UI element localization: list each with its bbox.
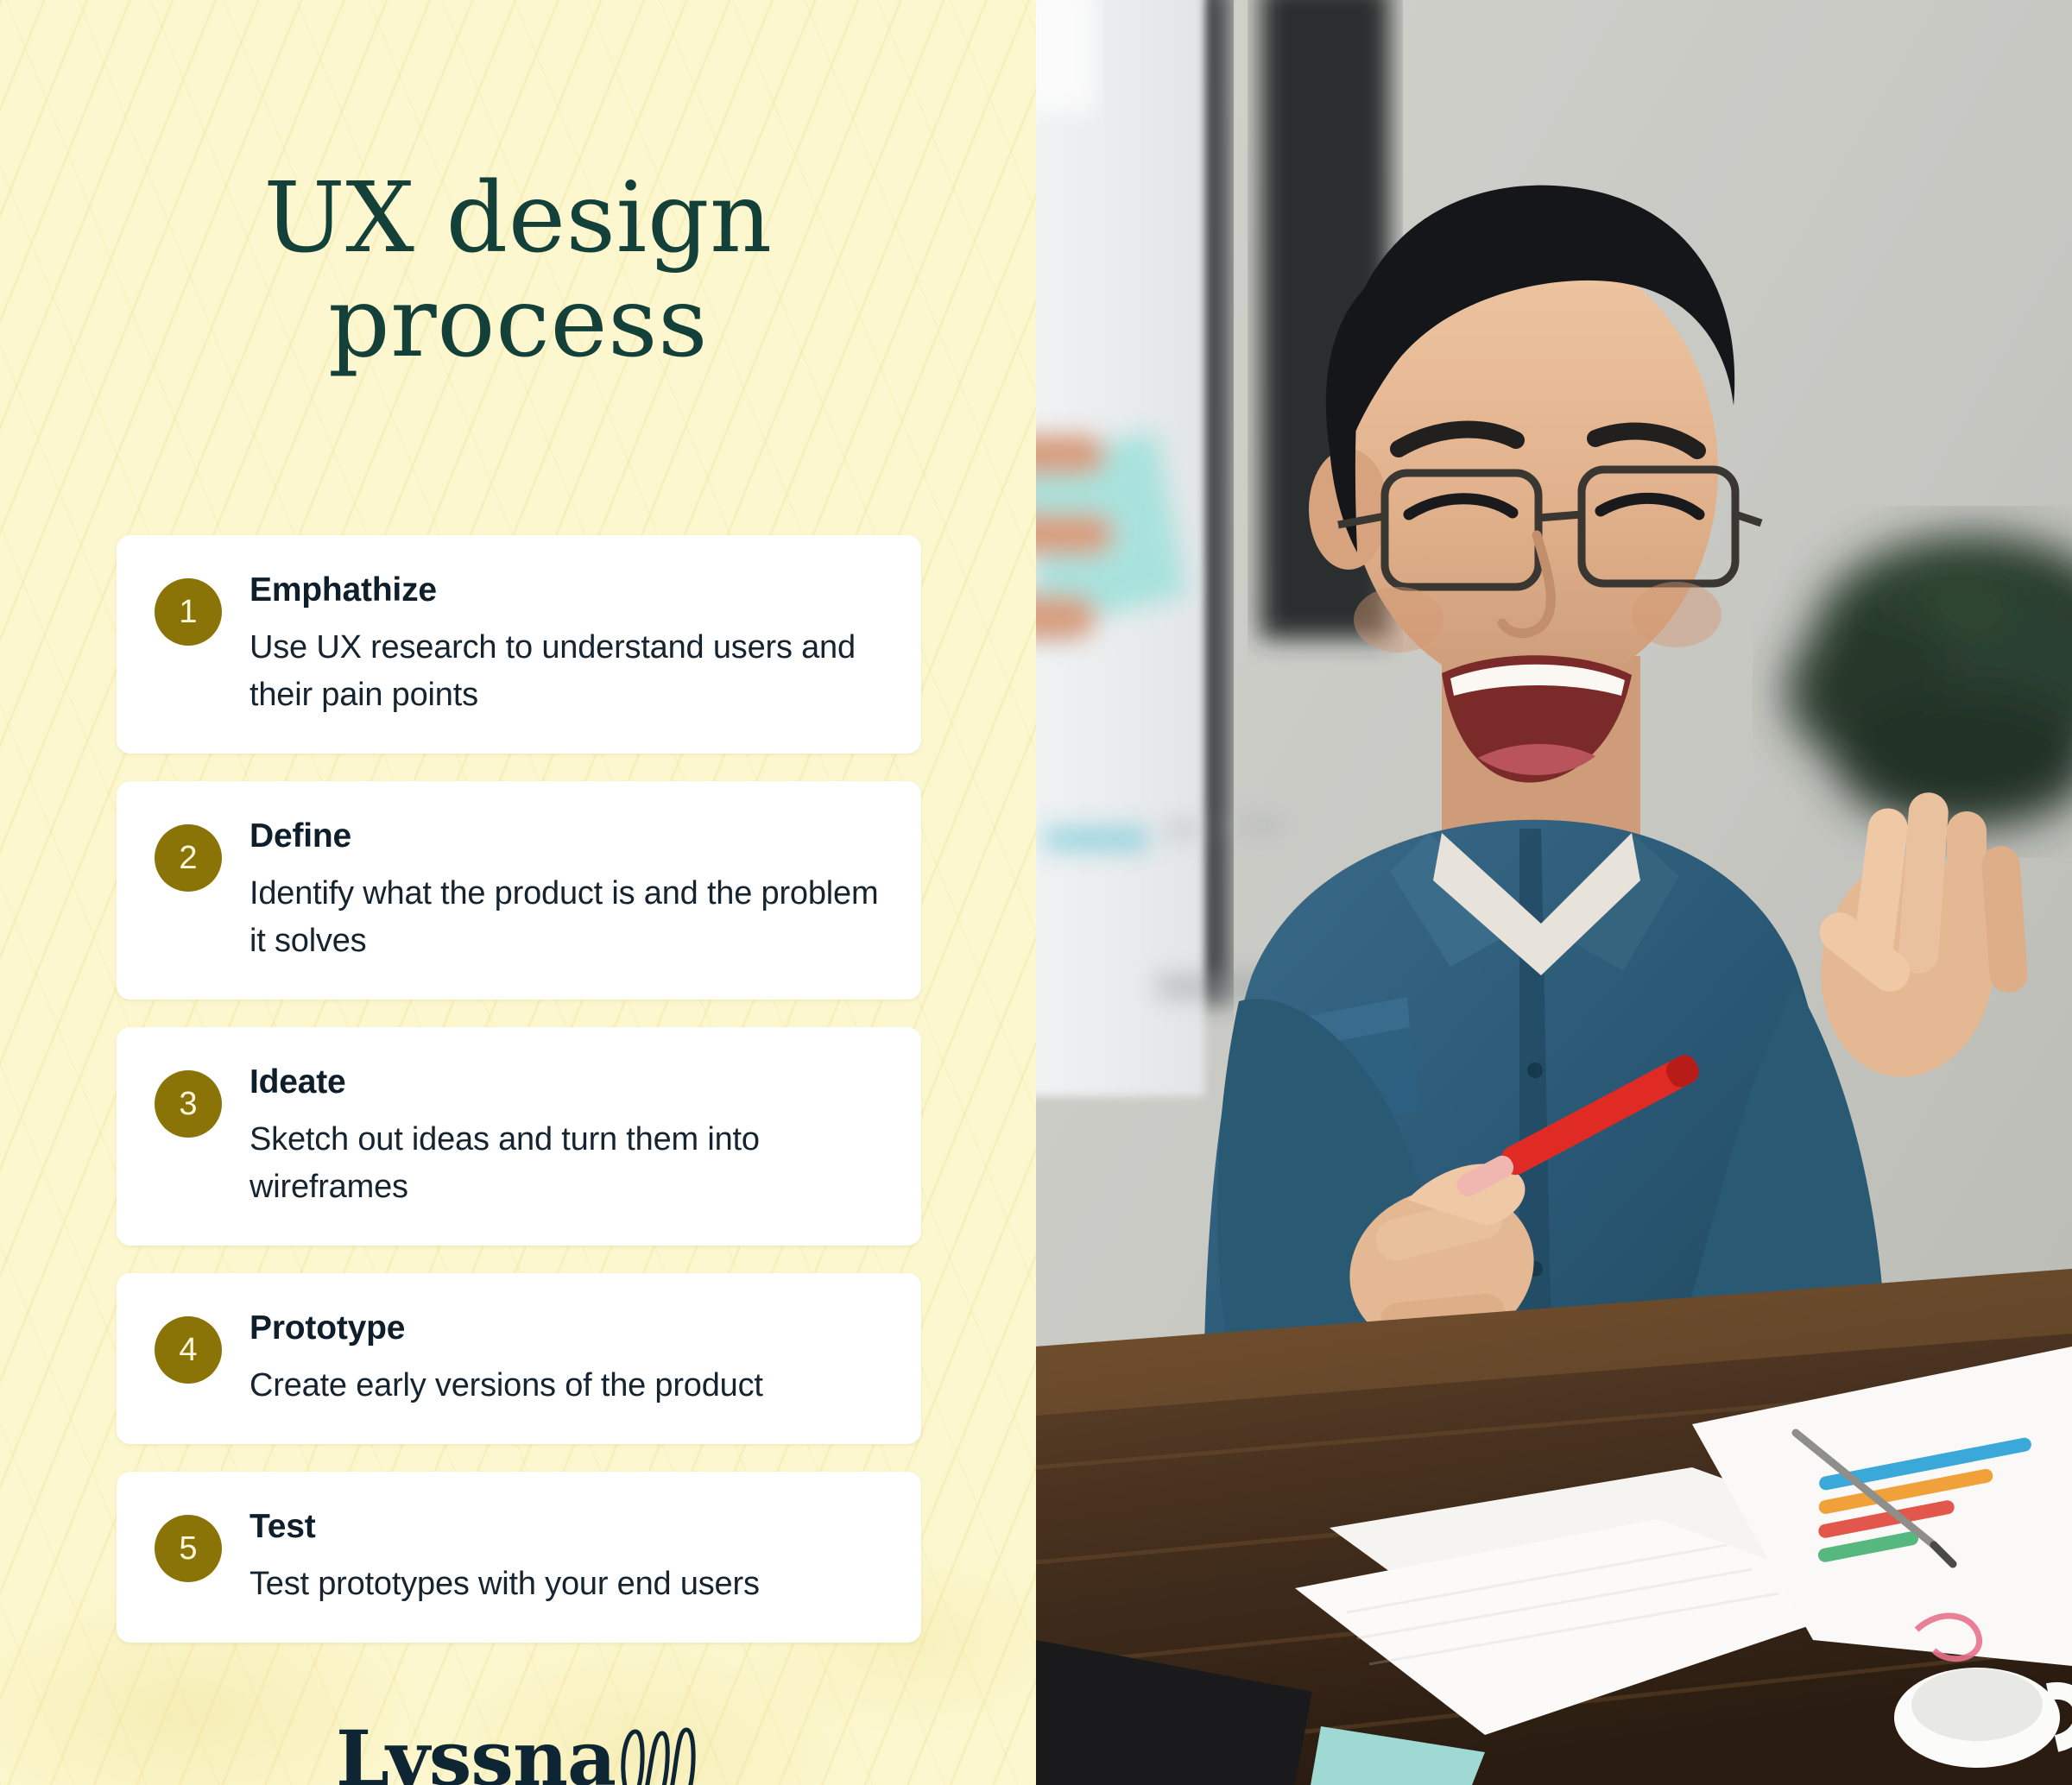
list-item: 2 Define Identify what the product is an…	[117, 781, 921, 1000]
step-title: Prototype	[250, 1309, 883, 1348]
step-number-badge: 2	[155, 824, 222, 892]
step-title: Define	[250, 817, 883, 856]
step-number-badge: 1	[155, 578, 222, 646]
step-description: Create early versions of the product	[250, 1362, 883, 1410]
page-title-line-1: UX design	[263, 162, 772, 274]
step-number-badge: 5	[155, 1515, 222, 1582]
step-description: Identify what the product is and the pro…	[250, 870, 883, 965]
step-number-badge: 4	[155, 1316, 222, 1384]
step-description: Sketch out ideas and turn them into wire…	[250, 1116, 883, 1211]
brand-logo: Lyssna	[0, 1720, 1036, 1785]
hero-photo	[1036, 0, 2072, 1785]
list-item: 3 Ideate Sketch out ideas and turn them …	[117, 1027, 921, 1246]
step-title: Ideate	[250, 1063, 883, 1102]
step-description: Test prototypes with your end users	[250, 1561, 883, 1608]
poster: UX design process 1 Emphathize Use UX re…	[0, 0, 2072, 1785]
left-content-panel: UX design process 1 Emphathize Use UX re…	[0, 0, 1036, 1785]
list-item: 1 Emphathize Use UX research to understa…	[117, 535, 921, 754]
brand-wordmark: Lyssna	[336, 1720, 616, 1785]
photo-illustration	[1036, 0, 2072, 1785]
page-title: UX design process	[0, 65, 1036, 375]
step-title: Emphathize	[250, 571, 883, 610]
step-title: Test	[250, 1508, 883, 1547]
sound-wave-squiggle-icon	[617, 1723, 700, 1785]
list-item: 5 Test Test prototypes with your end use…	[117, 1472, 921, 1643]
page-title-line-2: process	[129, 271, 906, 375]
step-number-badge: 3	[155, 1070, 222, 1138]
step-description: Use UX research to understand users and …	[250, 624, 883, 719]
list-item: 4 Prototype Create early versions of the…	[117, 1273, 921, 1444]
steps-list: 1 Emphathize Use UX research to understa…	[117, 535, 921, 1643]
